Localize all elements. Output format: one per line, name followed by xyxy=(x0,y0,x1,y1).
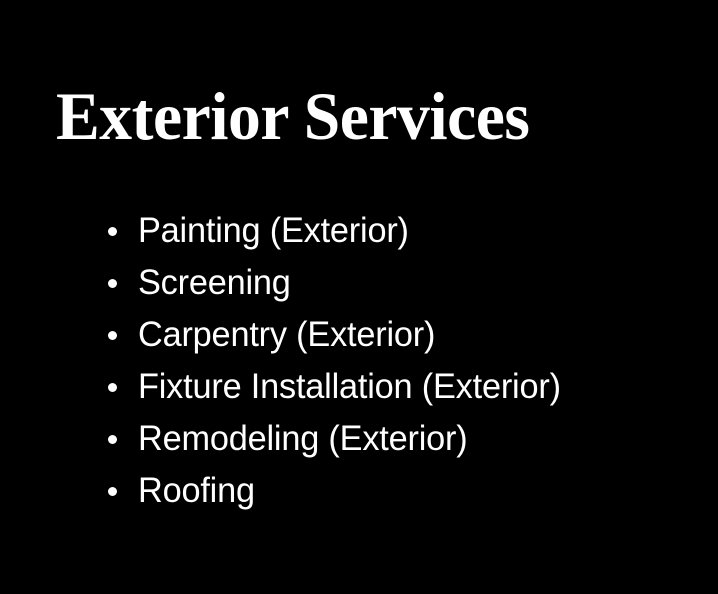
list-item: Screening xyxy=(104,257,704,309)
list-item-label: Roofing xyxy=(138,465,255,517)
list-item-label: Screening xyxy=(138,257,291,309)
list-item: Fixture Installation (Exterior) xyxy=(104,361,704,413)
services-bullet-list: Painting (Exterior) Screening Carpentry … xyxy=(104,205,704,517)
bullet-icon xyxy=(108,279,117,288)
list-item: Carpentry (Exterior) xyxy=(104,309,704,361)
list-item-label: Painting (Exterior) xyxy=(138,205,409,257)
bullet-icon xyxy=(108,227,117,236)
bullet-icon xyxy=(108,435,117,444)
list-item: Remodeling (Exterior) xyxy=(104,413,704,465)
presentation-slide: Exterior Services Painting (Exterior) Sc… xyxy=(0,0,718,594)
bullet-icon xyxy=(108,487,117,496)
list-item-label: Carpentry (Exterior) xyxy=(138,309,435,361)
list-item-label: Remodeling (Exterior) xyxy=(138,413,467,465)
list-item: Roofing xyxy=(104,465,704,517)
slide-title: Exterior Services xyxy=(56,78,654,154)
list-item: Painting (Exterior) xyxy=(104,205,704,257)
bullet-icon xyxy=(108,383,117,392)
list-item-label: Fixture Installation (Exterior) xyxy=(138,361,561,413)
bullet-icon xyxy=(108,331,117,340)
